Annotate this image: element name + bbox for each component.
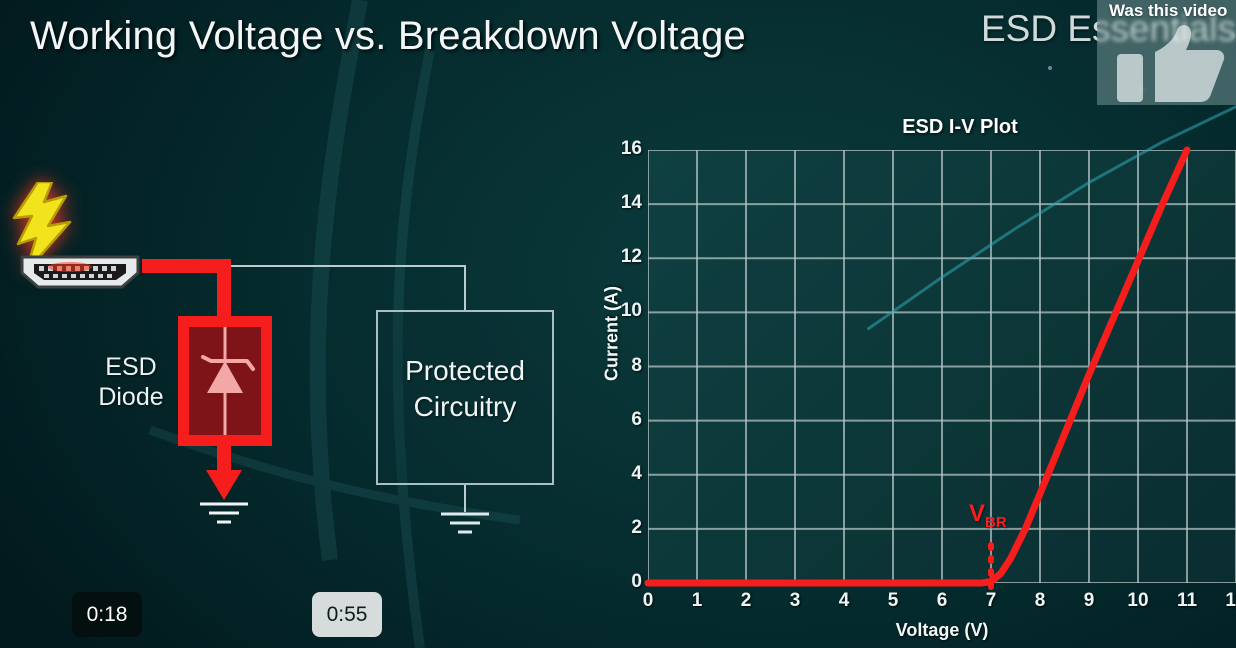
vbr-annotation-subscript: BR — [985, 514, 1007, 531]
iv-plot: ESD I-V Plot Current (A) Voltage (V) 024… — [580, 108, 1236, 648]
esd-diode-component[interactable] — [178, 316, 272, 446]
x-tick-label: 8 — [1020, 590, 1060, 612]
esd-current-arrow — [206, 470, 242, 500]
circuit-diagram: ESD Diode Protected Circuitry — [0, 170, 600, 550]
protected-label-line1: Protected — [376, 353, 554, 389]
y-tick-label: 4 — [602, 463, 642, 485]
y-tick-label: 6 — [602, 409, 642, 431]
y-tick-label: 10 — [602, 300, 642, 322]
tvs-zener-diode-symbol — [189, 327, 261, 435]
x-axis-label: Voltage (V) — [648, 620, 1236, 641]
x-tick-label: 2 — [726, 590, 766, 612]
x-tick-label: 11 — [1167, 590, 1207, 612]
ground-symbol — [196, 500, 252, 528]
plot-area — [648, 150, 1236, 583]
current-time-badge[interactable]: 0:18 — [72, 592, 142, 637]
x-tick-label: 9 — [1069, 590, 1109, 612]
signal-wire — [224, 265, 466, 267]
x-tick-label: 10 — [1118, 590, 1158, 612]
slide-canvas: Working Voltage vs. Breakdown Voltage ES… — [0, 0, 1236, 648]
x-tick-label: 4 — [824, 590, 864, 612]
page-title: Working Voltage vs. Breakdown Voltage — [30, 14, 746, 59]
x-tick-label: 7 — [971, 590, 1011, 612]
x-tick-label: 5 — [873, 590, 913, 612]
x-tick-label: 0 — [628, 590, 668, 612]
x-tick-label: 1 — [677, 590, 717, 612]
y-tick-label: 16 — [602, 138, 642, 160]
vbr-annotation: VBR — [969, 500, 1007, 531]
x-tick-label: 3 — [775, 590, 815, 612]
y-tick-label: 8 — [602, 355, 642, 377]
y-tick-label: 2 — [602, 517, 642, 539]
background-speck — [1048, 66, 1052, 70]
protected-circuitry-label: Protected Circuitry — [376, 353, 554, 425]
x-axis-ticks: 0123456789101112 — [648, 590, 1236, 616]
hdmi-connector-icon — [14, 253, 146, 291]
plot-curves — [648, 150, 1236, 583]
y-tick-label: 12 — [602, 246, 642, 268]
x-tick-label: 6 — [922, 590, 962, 612]
protected-label-line2: Circuitry — [376, 389, 554, 425]
esd-diode-label-line1: ESD — [88, 352, 174, 382]
y-axis-ticks: 0246810121416 — [594, 150, 642, 583]
survey-overlay[interactable]: Was this video — [1097, 0, 1236, 105]
y-tick-label: 14 — [602, 192, 642, 214]
vbr-annotation-symbol: V — [969, 500, 985, 527]
total-time-badge[interactable]: 0:55 — [312, 592, 382, 637]
ground-symbol — [437, 510, 493, 538]
protected-ground-wire — [464, 485, 466, 512]
survey-question: Was this video — [1109, 1, 1227, 21]
esd-diode-label-line2: Diode — [88, 382, 174, 412]
esd-current-wire — [217, 259, 231, 321]
chart-title: ESD I-V Plot — [580, 116, 1236, 139]
thumbs-up-icon[interactable] — [1117, 24, 1227, 102]
x-tick-label: 12 — [1216, 590, 1236, 612]
esd-diode-label: ESD Diode — [88, 352, 174, 412]
signal-wire — [464, 265, 466, 312]
esd-current-wire — [142, 259, 228, 273]
